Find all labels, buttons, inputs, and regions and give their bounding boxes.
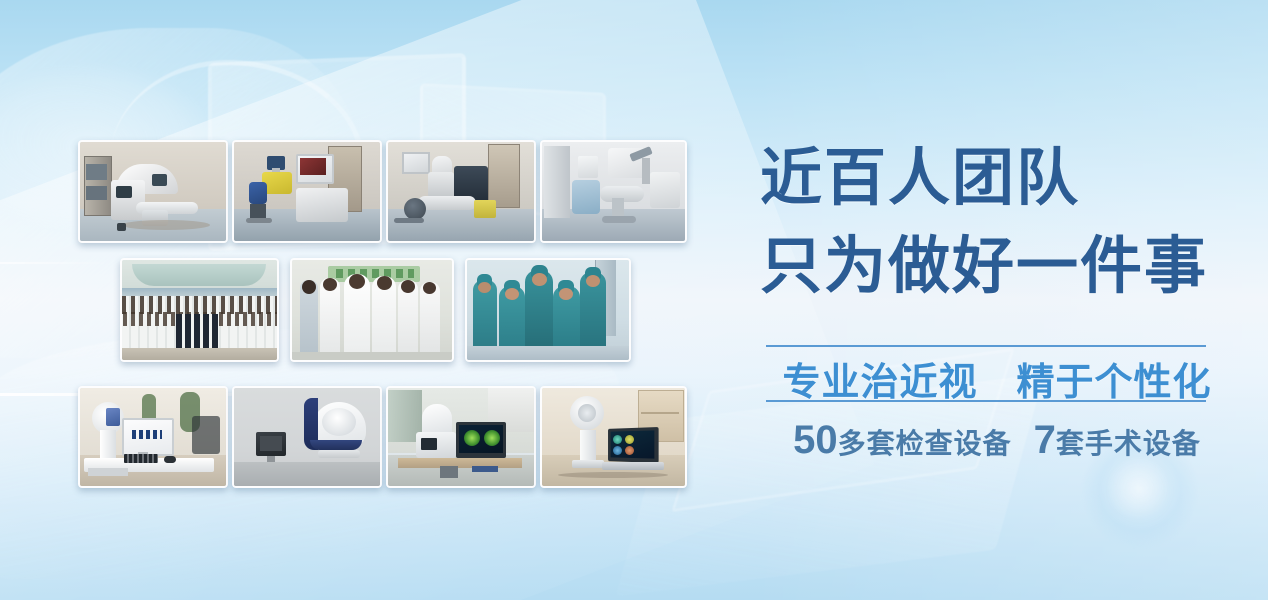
photo-row3-item3[interactable] [386, 386, 536, 488]
promo-banner: 近百人团队 只为做好一件事 专业治近视 精于个性化 50多套检查设备7套手术设备 [0, 0, 1268, 600]
photo-row2-item1[interactable] [120, 258, 279, 362]
photo-row1-item2[interactable] [232, 140, 382, 243]
subtitle-text: 专业治近视 精于个性化 [772, 351, 1222, 406]
subtitle-rule-top [766, 345, 1206, 347]
photo-row1-item4[interactable] [540, 140, 687, 243]
subtitle-rule-bottom [766, 400, 1206, 402]
headline-line-2: 只为做好一件事 [760, 232, 1208, 302]
text-panel: 近百人团队 只为做好一件事 专业治近视 精于个性化 50多套检查设备7套手术设备 [700, 0, 1268, 600]
stats-line: 50多套检查设备7套手术设备 [772, 418, 1222, 463]
photo-row1-item1[interactable] [78, 140, 228, 243]
surgery-label: 套手术设备 [1056, 428, 1201, 459]
photo-row3-item2[interactable] [232, 386, 382, 488]
photo-row3-item4[interactable] [540, 386, 687, 488]
equipment-label: 多套检查设备 [838, 428, 1012, 459]
photo-grid [0, 0, 710, 600]
photo-row3-item1[interactable] [78, 386, 228, 488]
photo-row2-item2[interactable] [290, 258, 454, 362]
headline-line-1: 近百人团队 [760, 144, 1080, 214]
surgery-count: 7 [1034, 418, 1056, 462]
photo-row2-item3[interactable] [465, 258, 631, 362]
equipment-count: 50 [793, 418, 838, 462]
photo-row1-item3[interactable] [386, 140, 536, 243]
